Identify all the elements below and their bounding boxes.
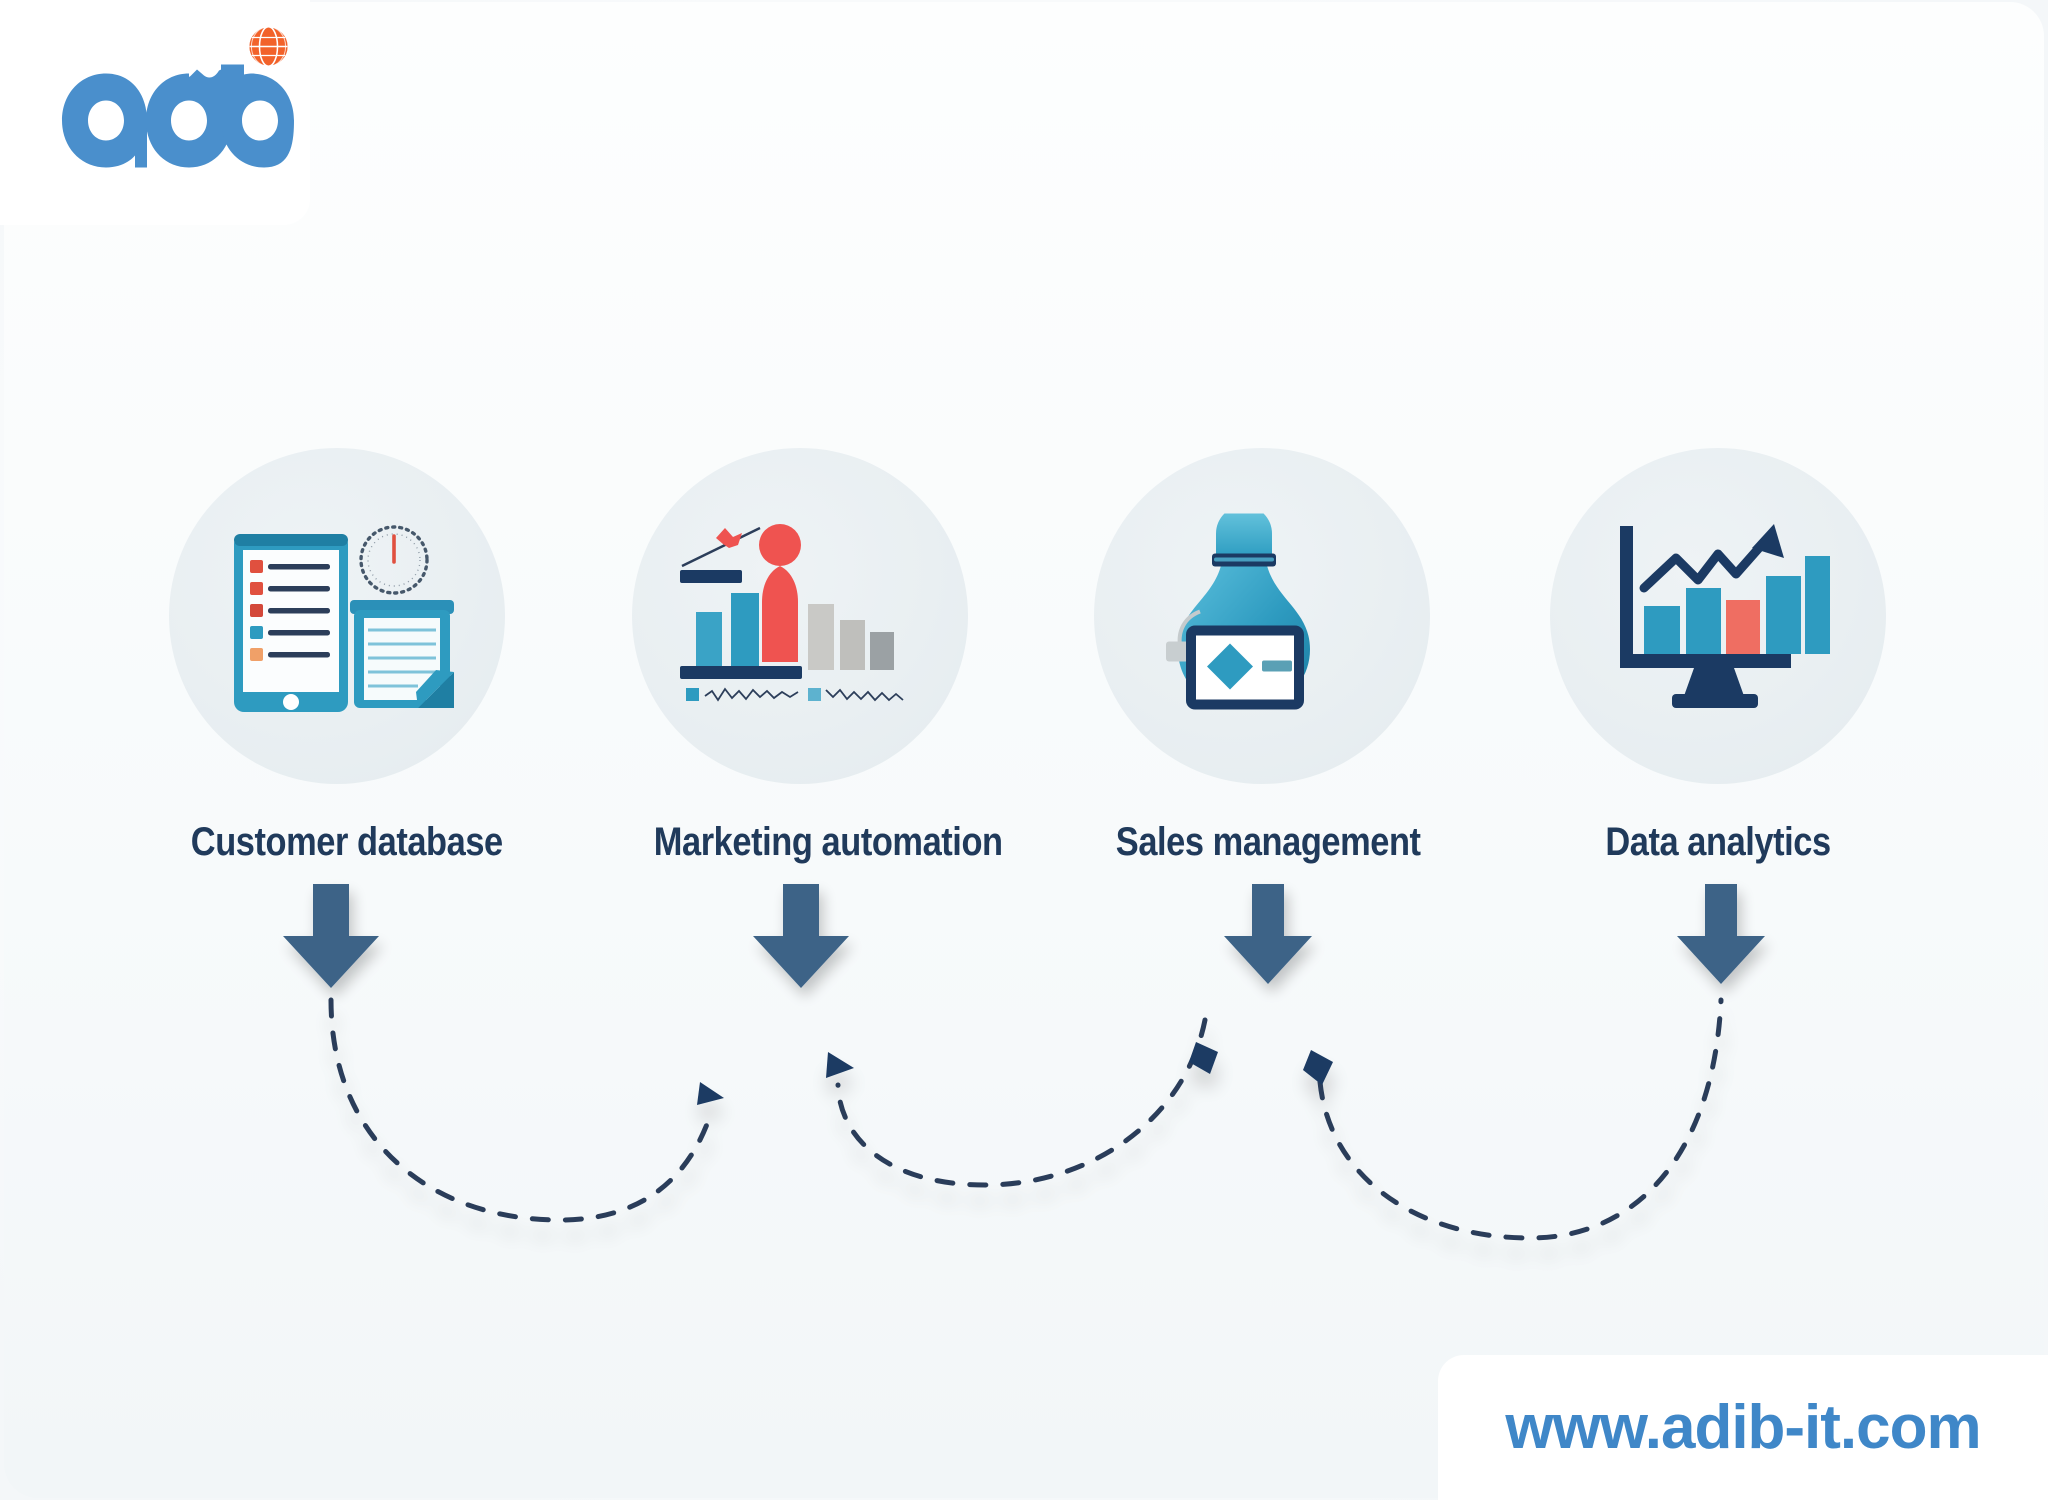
down-arrow-customer-database — [283, 884, 379, 988]
step-label: Sales management — [1116, 820, 1408, 865]
bulb-card-diamond-icon — [1152, 514, 1372, 719]
down-arrow-data-analytics — [1677, 884, 1765, 984]
pointer-pin-icon — [682, 528, 760, 566]
down-arrow-sales-management — [1224, 884, 1312, 984]
website-url[interactable]: www.adib-it.com — [1505, 1392, 1980, 1463]
down-arrow-marketing-automation — [753, 884, 849, 988]
step-marketing-automation[interactable]: Marketing automation — [630, 448, 970, 865]
sparkline-row — [808, 688, 903, 701]
brand-wordmark — [58, 62, 298, 172]
step-customer-database[interactable]: Customer database — [167, 448, 507, 865]
document-icon — [350, 600, 454, 708]
step-data-analytics[interactable]: Data analytics — [1548, 448, 1888, 865]
step-label: Customer database — [191, 820, 483, 865]
tablet-checklist-clock-document-icon — [212, 516, 462, 716]
tablet-checklist-icon — [234, 534, 348, 712]
step-icon-circle — [1094, 448, 1430, 784]
step-icon-circle — [1550, 448, 1886, 784]
step-icon-circle — [169, 448, 505, 784]
clock-icon — [361, 527, 427, 593]
step-label: Data analytics — [1572, 820, 1864, 865]
bar-chart-person-gear-icon — [674, 516, 926, 716]
card-diamond-icon — [1186, 626, 1304, 710]
step-icon-circle — [632, 448, 968, 784]
monitor-bar-chart-trend-arrow-icon — [1606, 518, 1830, 714]
brand-logo-card — [0, 0, 310, 225]
footer-url-card: www.adib-it.com — [1438, 1355, 2048, 1500]
step-label: Marketing automation — [654, 820, 946, 865]
step-sales-management[interactable]: Sales management — [1092, 448, 1432, 865]
connector-3-4 — [1303, 1000, 1721, 1238]
infographic-stage: Customer database — [0, 0, 2048, 1500]
connector-2-3 — [826, 1020, 1218, 1185]
brand-logo — [52, 18, 292, 178]
connector-1-2 — [331, 1000, 724, 1220]
person-icon — [759, 524, 801, 662]
sparkline-row — [686, 688, 798, 701]
